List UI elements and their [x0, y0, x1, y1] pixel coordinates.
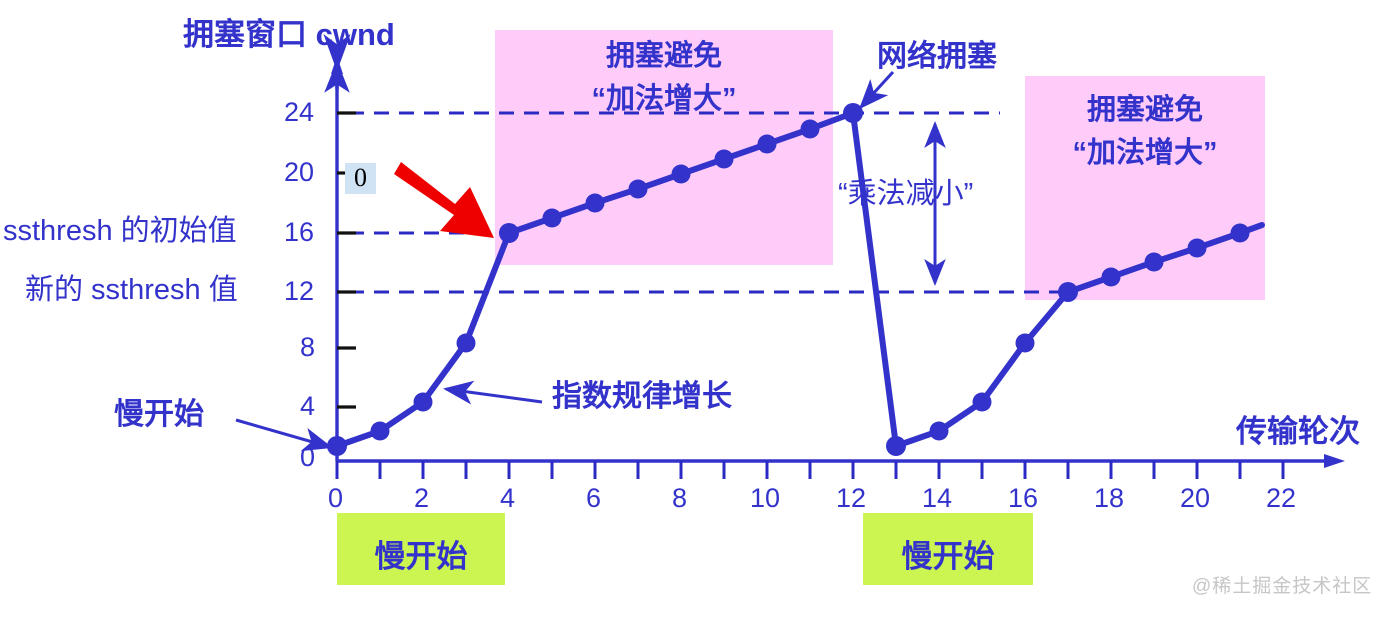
x-tick-label-2: 2 — [414, 483, 429, 514]
ssthresh-initial-label: ssthresh 的初始值 — [3, 215, 237, 247]
x-tick-label-16: 16 — [1008, 483, 1038, 514]
watermark: @稀土掘金技术社区 — [1192, 571, 1372, 598]
slow-start-callout-leader — [236, 420, 330, 447]
x-axis-title: 传输轮次 — [1236, 415, 1360, 450]
congestion-avoidance-text-2: 拥塞避免 “加法增大” — [1025, 86, 1265, 171]
slow-start-band-text-1: 慢开始 — [337, 531, 505, 576]
y-axis-title: 拥塞窗口 cwnd — [183, 18, 395, 53]
ssthresh-new-label: 新的 ssthresh 值 — [25, 274, 238, 306]
y-tick-label-0: 0 — [300, 442, 315, 473]
y-tick-label-20: 20 — [284, 157, 314, 188]
y-tick-label-12: 12 — [284, 276, 314, 307]
x-tick-marks — [337, 461, 1283, 479]
slow-start-band-text-2: 慢开始 — [863, 531, 1033, 576]
x-axis — [337, 454, 1345, 468]
x-tick-label-18: 18 — [1094, 483, 1124, 514]
red-pointer-arrow — [394, 162, 494, 238]
congestion-avoidance-line1-a: 拥塞避免 — [495, 32, 833, 74]
x-tick-label-10: 10 — [750, 483, 780, 514]
multiplicative-decrease-label: “乘法减小” — [838, 178, 973, 210]
x-tick-label-4: 4 — [500, 483, 515, 514]
congestion-avoidance-text-1: 拥塞避免 “加法增大” — [495, 30, 833, 117]
x-tick-label-6: 6 — [586, 483, 601, 514]
y-tick-marks — [337, 113, 356, 407]
x-tick-label-12: 12 — [836, 483, 866, 514]
y-tick-label-4: 4 — [300, 391, 315, 422]
chart-canvas: 拥塞窗口 cwnd 传输轮次 24 20 16 12 8 4 0 0 2 4 6… — [0, 0, 1378, 618]
network-congestion-leader — [861, 72, 893, 107]
x-tick-label-8: 8 — [672, 483, 687, 514]
congestion-avoidance-line2-b: “加法增大” — [1025, 129, 1265, 171]
y-tick-label-16: 16 — [284, 217, 314, 248]
x-tick-label-20: 20 — [1180, 483, 1210, 514]
y-tick-label-8: 8 — [300, 332, 315, 363]
exponential-growth-leader — [446, 389, 542, 402]
exponential-growth-label: 指数规律增长 — [552, 380, 732, 414]
network-congestion-label: 网络拥塞 — [877, 40, 997, 74]
x-tick-label-14: 14 — [922, 483, 952, 514]
y-tick-label-24: 24 — [284, 97, 314, 128]
slow-start-callout-label: 慢开始 — [114, 398, 204, 432]
x-tick-label-0: 0 — [328, 483, 343, 514]
cursor-value-box[interactable]: 0 — [345, 163, 376, 194]
congestion-avoidance-line2-a: “加法增大” — [495, 75, 833, 117]
congestion-avoidance-line1-b: 拥塞避免 — [1025, 86, 1265, 128]
x-tick-label-22: 22 — [1266, 483, 1296, 514]
